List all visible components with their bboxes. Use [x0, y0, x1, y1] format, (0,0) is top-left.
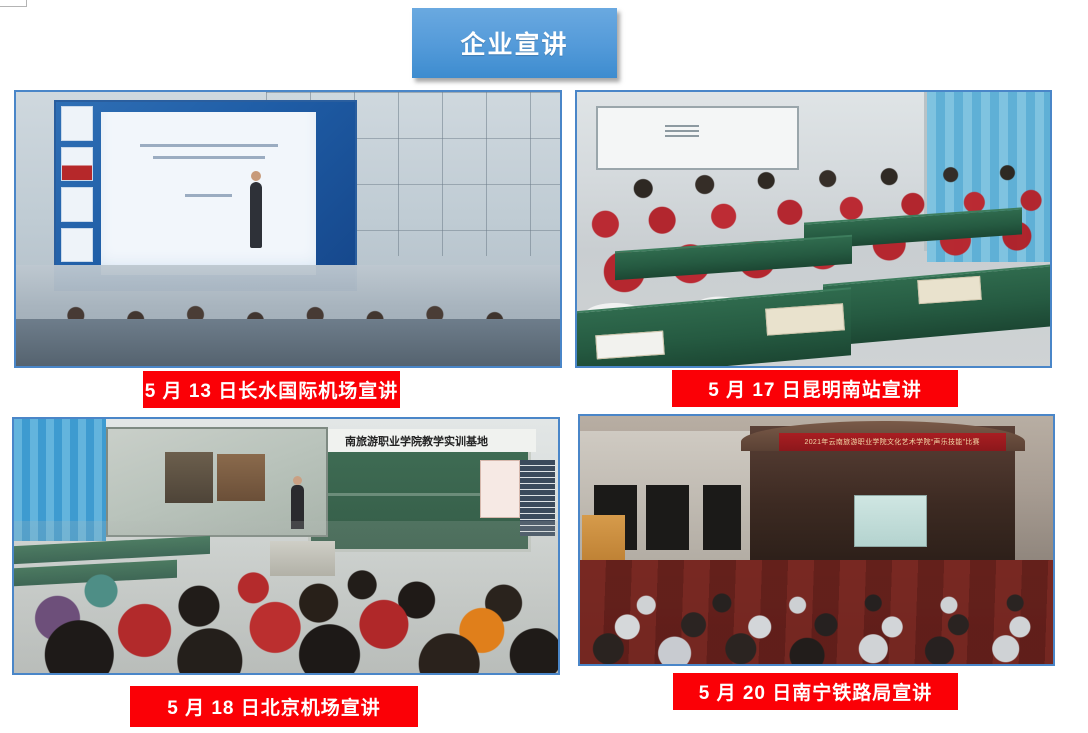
stage-front-edge [16, 319, 560, 366]
auditorium-window [703, 485, 741, 549]
slide-thumbnail [61, 228, 94, 263]
photo-scene: 南旅游职业学院教学实训基地 [14, 419, 558, 673]
photo-scene: 2021年云南旅游职业学院文化艺术学院“声乐技能”比赛 [580, 416, 1053, 664]
slide-thumbnail [61, 106, 94, 141]
page-title: 企业宣讲 [460, 25, 568, 61]
desk-paper [917, 276, 982, 304]
audience-heads [580, 555, 1053, 664]
slide-date-line [185, 194, 232, 197]
projection-screen [854, 495, 927, 547]
photo-nanning-railway-bureau: 2021年云南旅游职业学院文化艺术学院“声乐技能”比赛 [578, 414, 1055, 666]
slide-thumbnail [61, 147, 94, 182]
photo-kunming-south-station [575, 90, 1052, 368]
wall-poster [480, 460, 520, 518]
slide-title-line [140, 144, 278, 147]
photo-beijing-airport: 南旅游职业学院教学实训基地 [12, 417, 560, 675]
student-rows [14, 521, 558, 673]
classroom-banner: 南旅游职业学院教学实训基地 [297, 429, 536, 452]
caption-nanning-railway-bureau: 5 月 20 日南宁铁路局宣讲 [673, 673, 958, 710]
projection-screen [54, 100, 357, 290]
caption-kunming-south-station: 5 月 17 日昆明南站宣讲 [672, 370, 958, 407]
projected-slide [101, 112, 316, 276]
caption-beijing-airport: 5 月 18 日北京机场宣讲 [130, 686, 418, 727]
slide-subtitle-line [153, 156, 265, 159]
projected-image [217, 454, 265, 501]
photo-changshui-airport [14, 90, 562, 368]
photo-scene [16, 92, 560, 366]
desk-paper [595, 331, 665, 360]
classroom-banner-text: 南旅游职业学院教学实训基地 [345, 433, 488, 449]
stage-red-banner: 2021年云南旅游职业学院文化艺术学院“声乐技能”比赛 [779, 433, 1006, 450]
slide-thumbnail [61, 187, 94, 222]
page-title-banner: 企业宣讲 [412, 8, 617, 78]
corner-rule [0, 0, 27, 7]
auditorium-window [646, 485, 689, 549]
caption-changshui-airport: 5 月 13 日长水国际机场宣讲 [143, 371, 400, 408]
speaker-figure [250, 182, 262, 248]
stage-red-banner-text: 2021年云南旅游职业学院文化艺术学院“声乐技能”比赛 [805, 437, 980, 447]
whiteboard-text [665, 125, 699, 141]
projected-image [165, 452, 213, 503]
desk-paper [765, 303, 844, 335]
photo-scene [577, 92, 1050, 366]
slide-thumbnail-strip [61, 106, 94, 263]
